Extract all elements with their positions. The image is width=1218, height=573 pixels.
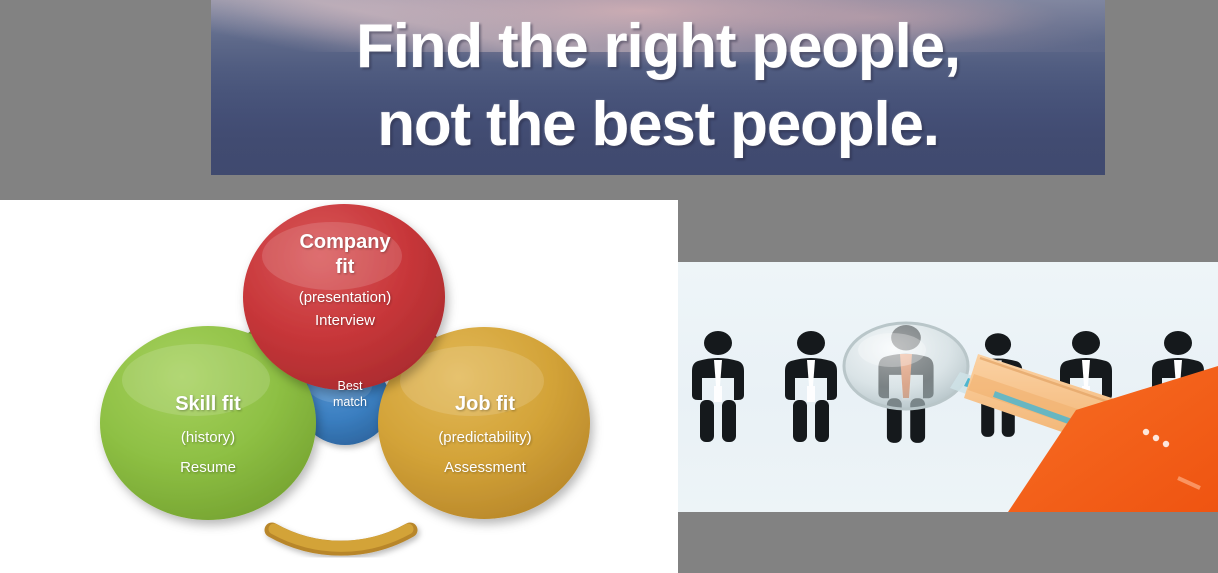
quote-banner: Find the right people, not the best peop… bbox=[211, 0, 1105, 175]
venn-circle-company-fit bbox=[243, 204, 445, 390]
candidate-selection-photo bbox=[678, 262, 1218, 512]
candidate-selection-graphic bbox=[678, 262, 1218, 512]
venn-diagram-panel: Company fit (presentation) Interview Ski… bbox=[0, 200, 678, 573]
connector-skill-to-job-hi bbox=[274, 529, 408, 546]
venn-diagram-graphic bbox=[0, 200, 678, 573]
magnifier-icon bbox=[844, 323, 968, 409]
banner-line-1: Find the right people, bbox=[211, 9, 1105, 85]
banner-line-2: not the best people. bbox=[211, 87, 1105, 163]
screenshot-root: Find the right people, not the best peop… bbox=[0, 0, 1218, 573]
